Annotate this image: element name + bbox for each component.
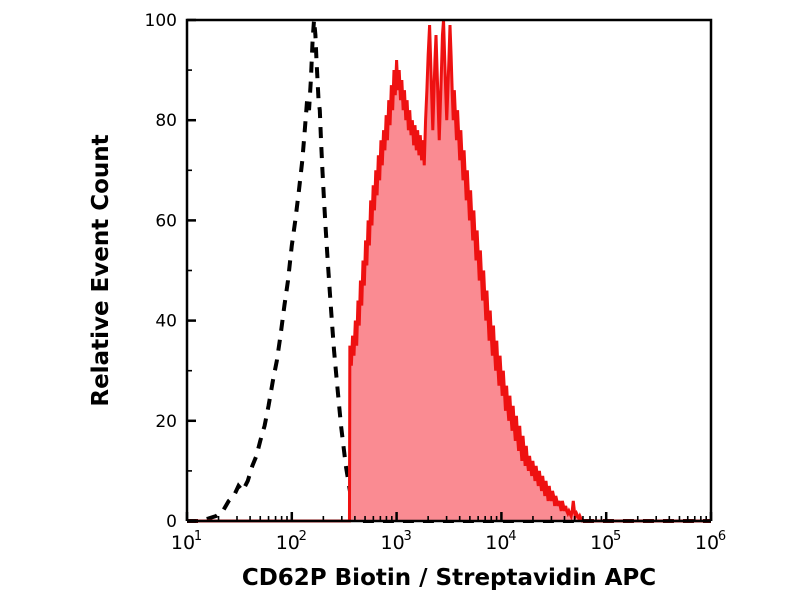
y-tick-label: 40	[155, 312, 177, 332]
x-tick-exponent: 6	[718, 529, 726, 544]
x-tick-exponent: 3	[403, 529, 411, 544]
y-tick-label: 20	[155, 412, 177, 432]
y-tick-label: 60	[155, 211, 177, 231]
x-tick-exponent: 2	[299, 529, 307, 544]
x-tick-label: 10	[590, 532, 614, 554]
x-tick-label: 10	[695, 532, 719, 554]
flow-cytometry-histogram-figure: 101102103104105106020406080100 Relative …	[0, 0, 800, 600]
x-tick-exponent: 1	[194, 529, 202, 544]
y-tick-label: 100	[145, 11, 177, 31]
x-tick-exponent: 5	[613, 529, 621, 544]
x-tick-label: 10	[171, 532, 195, 554]
x-axis-title: CD62P Biotin / Streptavidin APC	[242, 565, 656, 591]
y-axis-title: Relative Event Count	[88, 134, 114, 406]
y-tick-label: 0	[166, 512, 177, 532]
x-tick-label: 10	[485, 532, 509, 554]
chart-canvas: 101102103104105106020406080100 Relative …	[0, 0, 800, 600]
x-tick-label: 10	[381, 532, 405, 554]
x-tick-label: 10	[276, 532, 300, 554]
x-tick-exponent: 4	[508, 529, 516, 544]
y-tick-label: 80	[155, 111, 177, 131]
